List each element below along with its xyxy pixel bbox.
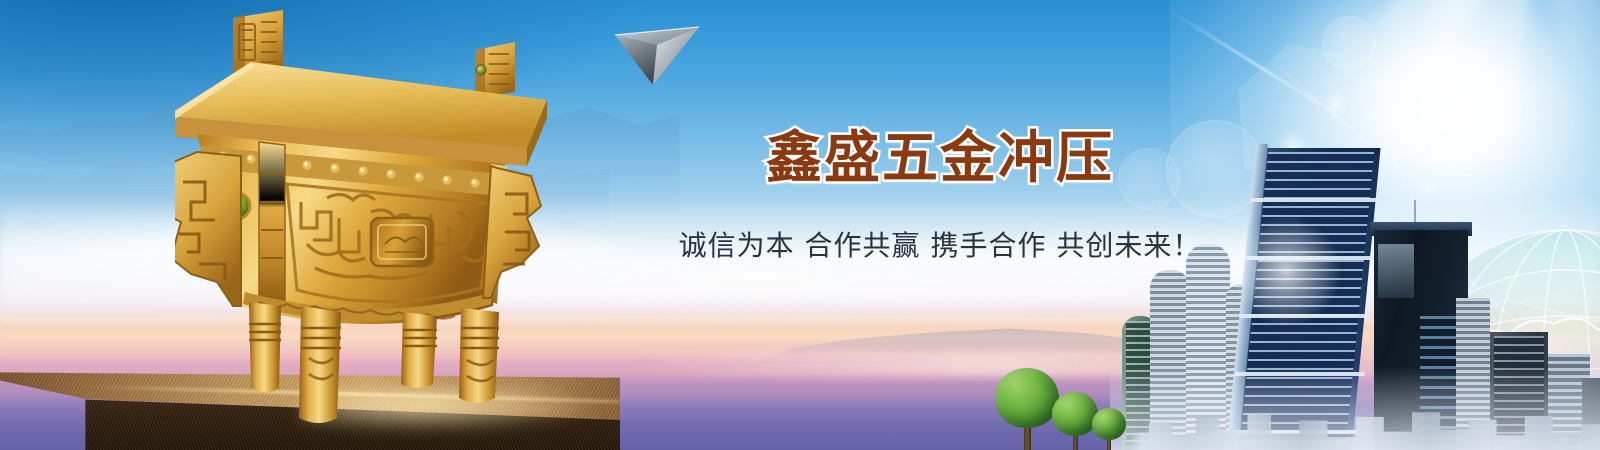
metallic-triangle-icon [613,25,701,87]
building-antenna [1414,200,1416,222]
tree-icon [1092,408,1126,450]
building-main-glass-tower [1233,148,1380,450]
tree-icon [995,368,1059,450]
ding-handle-right [475,42,515,98]
ding-central-cartouche [371,218,433,266]
tree-crown [1092,408,1126,440]
banner-text-block: 鑫盛五金冲压 诚信为本 合作共赢 携手合作 共创未来！ [640,128,1240,264]
tree-crown [995,368,1059,428]
tree-trunk [1073,436,1078,450]
tree-trunk [1024,428,1031,450]
bokeh-circle [1412,66,1442,96]
golden-ding-vessel-icon [175,6,605,426]
page-title: 鑫盛五金冲压 [640,128,1240,190]
ding-body [197,134,507,324]
ding-side-wing-left [175,152,241,306]
banner-subtitle: 诚信为本 合作共赢 携手合作 共创未来！ [640,224,1240,264]
tree-trunk [1107,440,1111,450]
bokeh-circle [1322,16,1376,70]
ding-side-wing-right [483,166,541,298]
hero-banner: 鑫盛五金冲压 诚信为本 合作共赢 携手合作 共创未来！ [0,0,1600,450]
